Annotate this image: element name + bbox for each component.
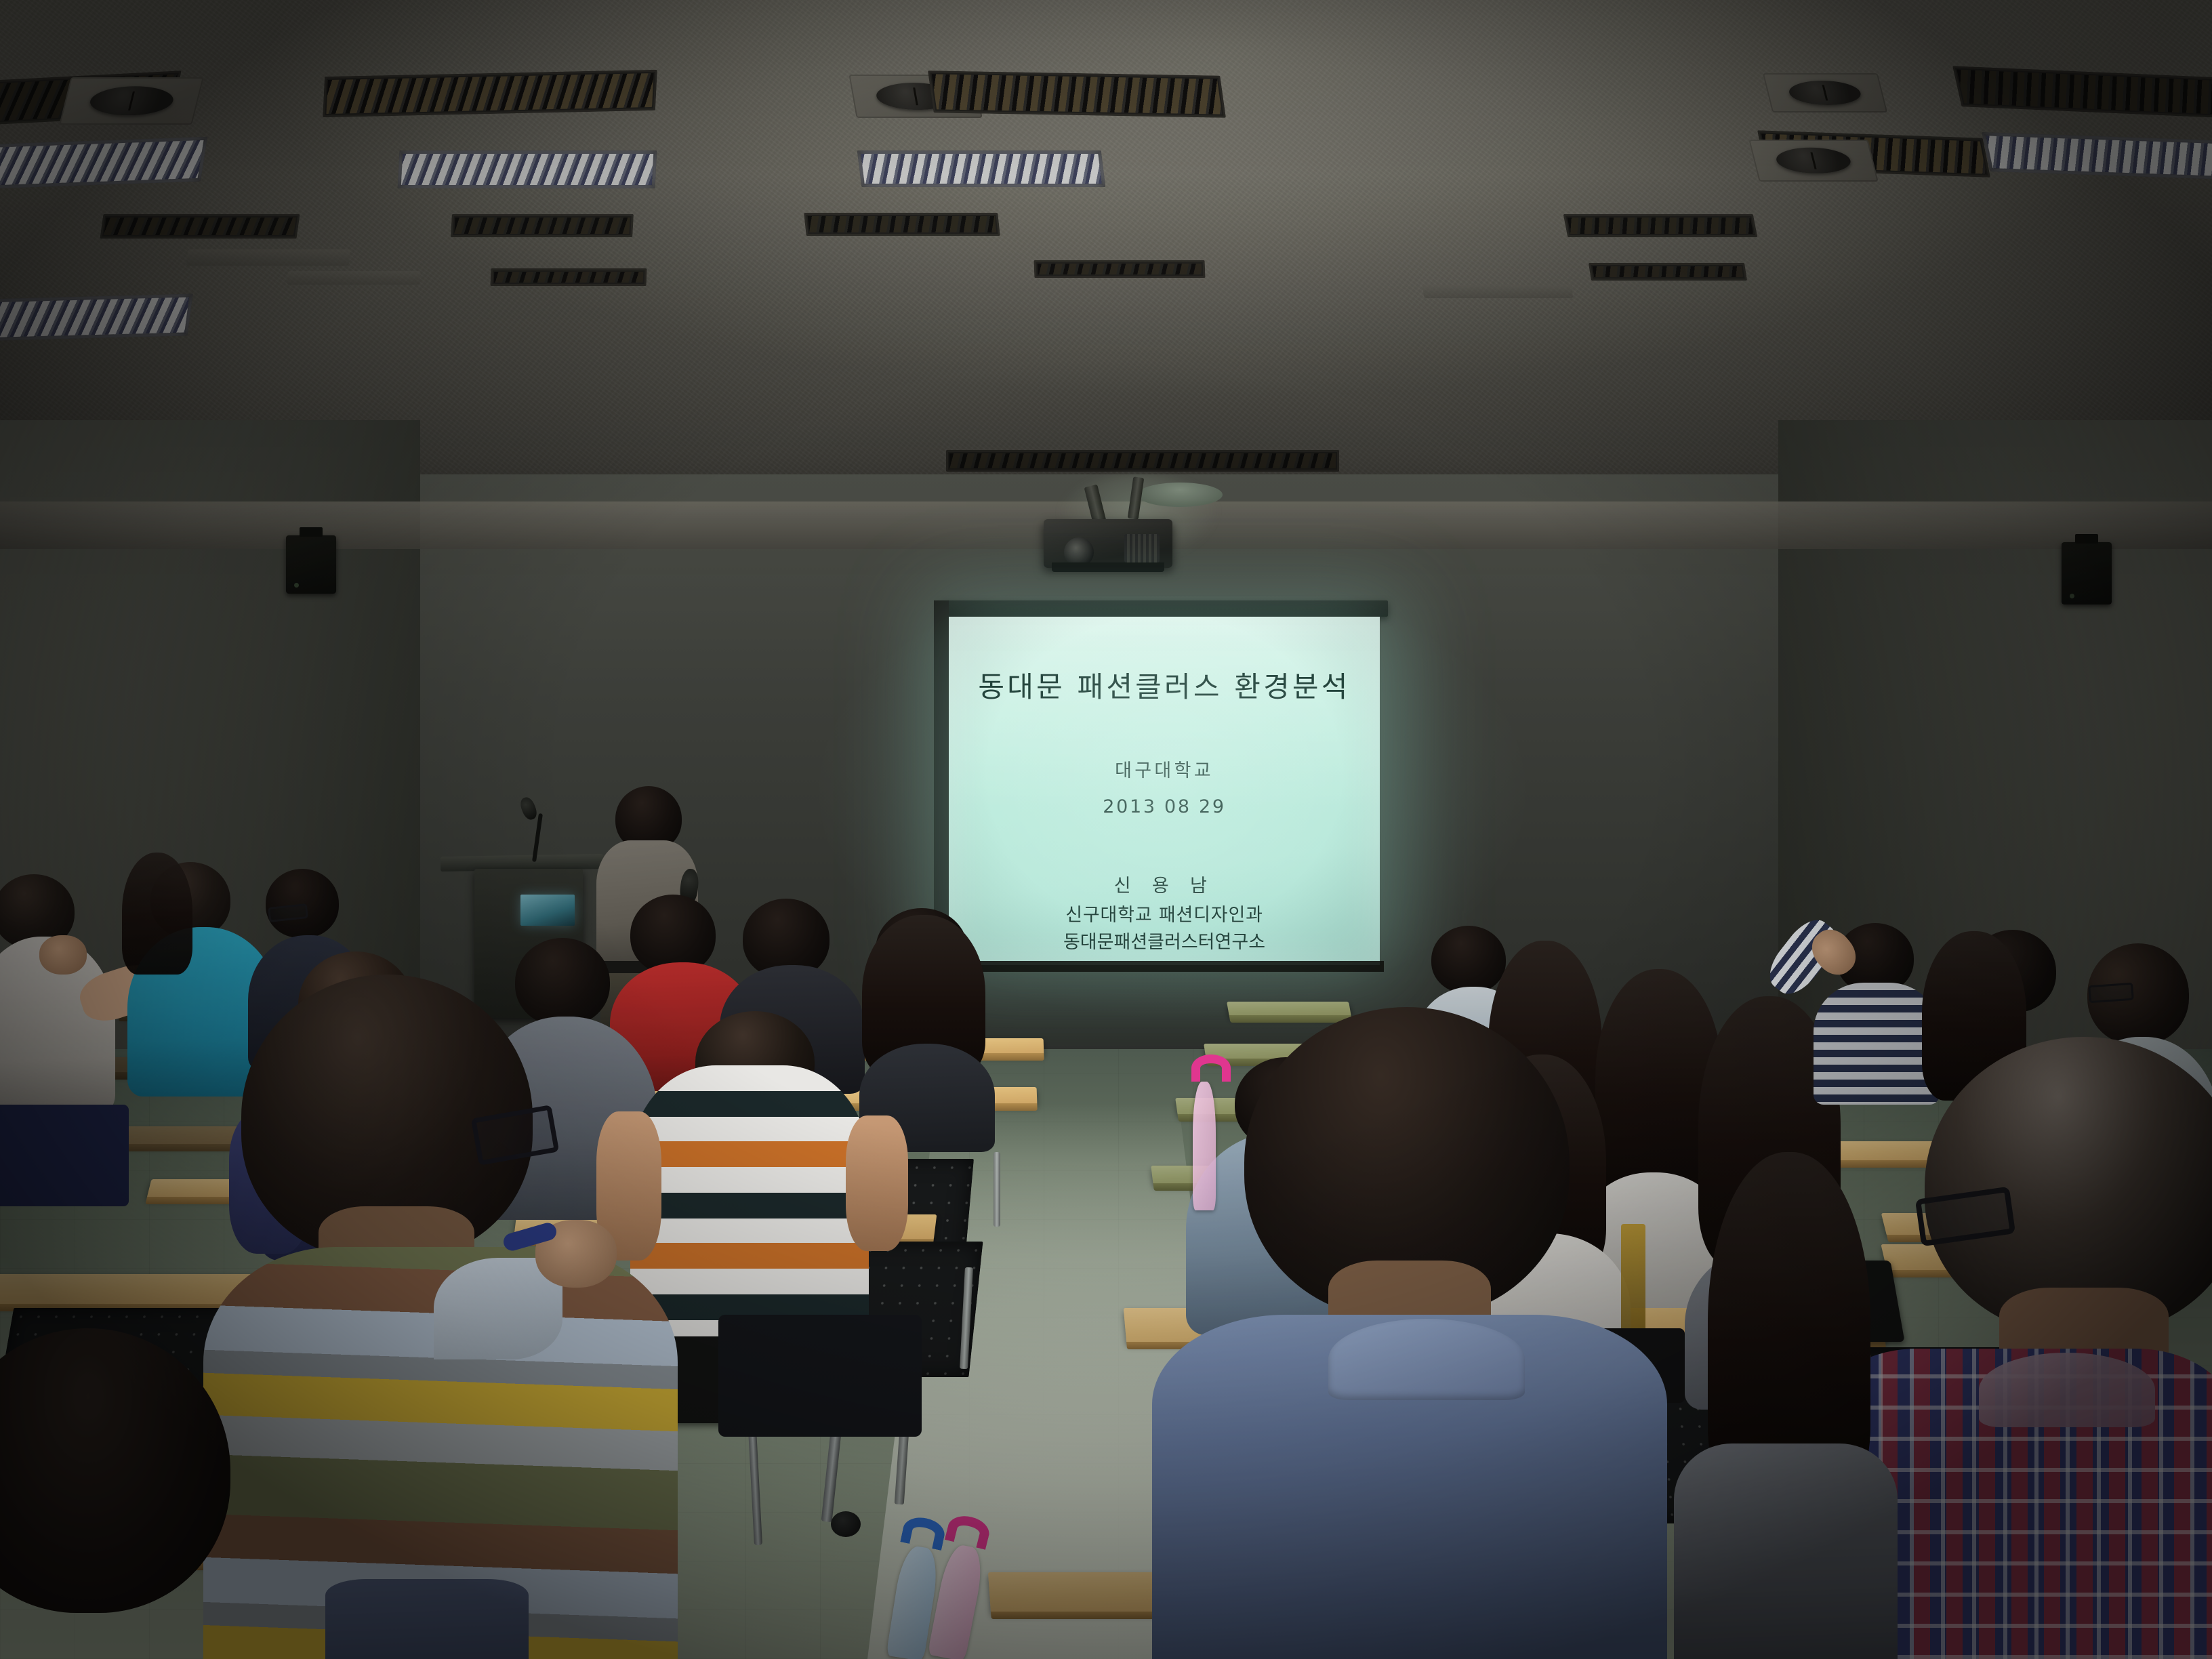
student-raised-arm-body xyxy=(1814,983,1940,1105)
woman-grey-top-body xyxy=(1674,1443,1898,1659)
student-white-tee-hand xyxy=(39,935,87,975)
student-striped-orange-shorts xyxy=(718,1315,922,1437)
student-grey-tee-head xyxy=(515,938,610,1026)
man-right-glasses-frames xyxy=(2088,983,2134,1004)
student-striped-orange-arm-right xyxy=(846,1115,908,1251)
student-white-tee-shorts xyxy=(0,1105,129,1206)
wall-speaker-left xyxy=(286,535,336,594)
umbrella-pink-hooked-handle xyxy=(1191,1054,1231,1082)
projector-base xyxy=(1052,562,1164,572)
projector-ceiling-plate xyxy=(1137,483,1223,507)
man-blue-polo-collar xyxy=(1328,1319,1525,1400)
projection-screen: 동대문 패션클러스 환경분석 대구대학교 2013 08 29 신 용 남 신구… xyxy=(949,617,1380,965)
umbrella-pink-hooked-canopy xyxy=(1193,1082,1216,1210)
person-bottom-left-shoulder xyxy=(325,1579,529,1659)
desk-back-center-1 xyxy=(1227,1002,1351,1017)
man-plaid-shirt-collar xyxy=(1979,1353,2155,1427)
screen-roller-housing xyxy=(941,600,1388,617)
student-dark-hair-left xyxy=(122,853,192,975)
student-striped-orange-body xyxy=(630,1065,869,1336)
wall-speaker-right xyxy=(2062,542,2112,605)
ceiling-projector xyxy=(1044,519,1172,568)
chair-caster-center xyxy=(831,1511,861,1537)
lecture-hall-photo: 동대문 패션클러스 환경분석 대구대학교 2013 08 29 신 용 남 신구… xyxy=(0,0,2212,1659)
screen-bottom-bar xyxy=(945,961,1384,972)
desk-leg-4 xyxy=(994,1152,1000,1227)
handbag-strap xyxy=(1621,1224,1645,1346)
student-blue-shirt-right-head xyxy=(1431,926,1506,994)
podium-monitor xyxy=(520,895,575,926)
